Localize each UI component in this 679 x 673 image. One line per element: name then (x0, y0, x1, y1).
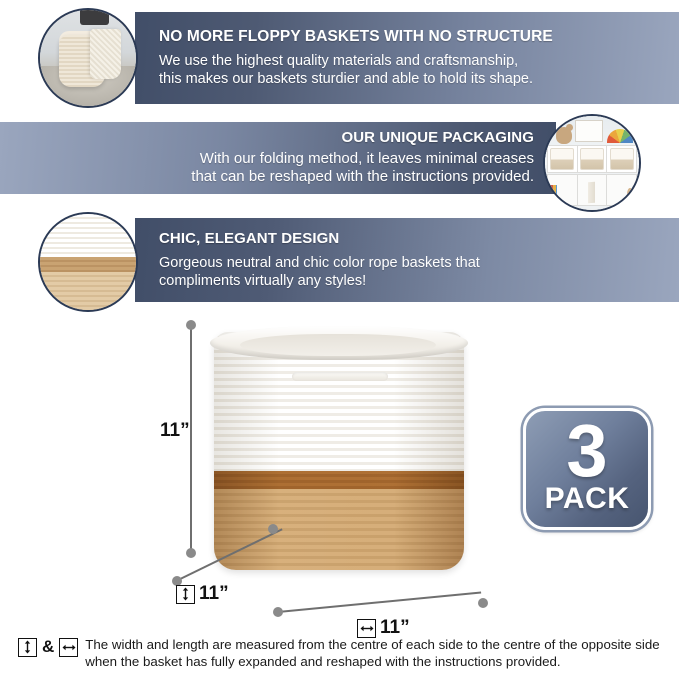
photo-books (550, 185, 557, 204)
basket-handle (292, 372, 388, 381)
bathroom-basket-photo (40, 10, 136, 106)
dimension-height-value: 11” (160, 420, 190, 442)
nursery-shelf-photo (545, 116, 639, 210)
horizontal-arrow-icon (357, 619, 376, 638)
shelf-cell (548, 175, 578, 205)
basket-body (214, 332, 464, 570)
dimension-label-depth: 11” (176, 583, 229, 605)
photo-storage-bin (610, 148, 634, 171)
vertical-arrow-icon (176, 585, 195, 604)
feature-body-design: Gorgeous neutral and chic color rope bas… (159, 254, 480, 291)
photo-storage-bin (550, 148, 574, 171)
dimension-label-height: 11” (160, 420, 190, 442)
dimension-endpoint-dot (268, 524, 278, 534)
feature-title-structure: NO MORE FLOPPY BASKETS WITH NO STRUCTURE (159, 28, 553, 46)
dimension-line-height (190, 327, 192, 553)
dimension-endpoint-dot (186, 548, 196, 558)
photo-picture-frame (575, 120, 603, 143)
footnote-text: The width and length are measured from t… (85, 636, 659, 670)
rope-white-section (40, 214, 136, 257)
footnote-icon-group: & (18, 636, 78, 657)
shelf-cell (607, 175, 636, 205)
dimension-depth-value: 11” (199, 583, 229, 605)
teddy-bear-icon (556, 127, 572, 144)
ampersand-symbol: & (42, 637, 54, 657)
shelf-cell (607, 146, 636, 172)
feature-title-design: CHIC, ELEGANT DESIGN (159, 230, 339, 247)
shelf-cell (578, 146, 608, 172)
product-image-rope-basket (196, 322, 482, 580)
feature-thumbnail-structure (38, 8, 138, 108)
shelf-cell (548, 146, 578, 172)
pack-quantity-badge: 3 PACK (523, 408, 651, 530)
shelf-cell (578, 175, 608, 205)
feature-banner-packaging: OUR UNIQUE PACKAGING With our folding me… (0, 122, 556, 194)
dimension-endpoint-dot (478, 598, 488, 608)
basket-tan-accent-band (214, 471, 464, 489)
photo-dark-object (80, 8, 109, 25)
rope-tan-band (40, 257, 136, 271)
dimension-endpoint-dot (273, 607, 283, 617)
photo-book (588, 182, 595, 203)
photo-shelf-bottom-row (547, 174, 637, 206)
pack-label: PACK (545, 484, 630, 514)
feature-banner-design: CHIC, ELEGANT DESIGN Gorgeous neutral an… (135, 218, 679, 302)
feature-body-structure: We use the highest quality materials and… (159, 52, 533, 89)
rope-texture-photo (40, 214, 136, 310)
dimension-endpoint-dot (186, 320, 196, 330)
feature-banner-structure: NO MORE FLOPPY BASKETS WITH NO STRUCTURE… (135, 12, 679, 104)
photo-plush-toy (627, 188, 633, 202)
rope-beige-section (40, 272, 136, 310)
vertical-arrow-icon (18, 638, 37, 657)
photo-towel (90, 29, 121, 79)
feature-body-packaging: With our folding method, it leaves minim… (191, 150, 534, 187)
feature-title-packaging: OUR UNIQUE PACKAGING (341, 129, 534, 146)
basket-beige-rope-section (214, 489, 464, 570)
measurement-footnote: & The width and length are measured from… (18, 636, 668, 670)
horizontal-arrow-icon (59, 638, 78, 657)
dimension-line-width (278, 591, 481, 612)
product-infographic: NO MORE FLOPPY BASKETS WITH NO STRUCTURE… (0, 0, 679, 673)
feature-thumbnail-design (38, 212, 138, 312)
photo-shelf-top-row (547, 145, 637, 173)
basket-opening (240, 334, 436, 356)
feature-thumbnail-packaging (543, 114, 641, 212)
photo-storage-bin (580, 148, 604, 171)
pack-count: 3 (566, 420, 607, 482)
